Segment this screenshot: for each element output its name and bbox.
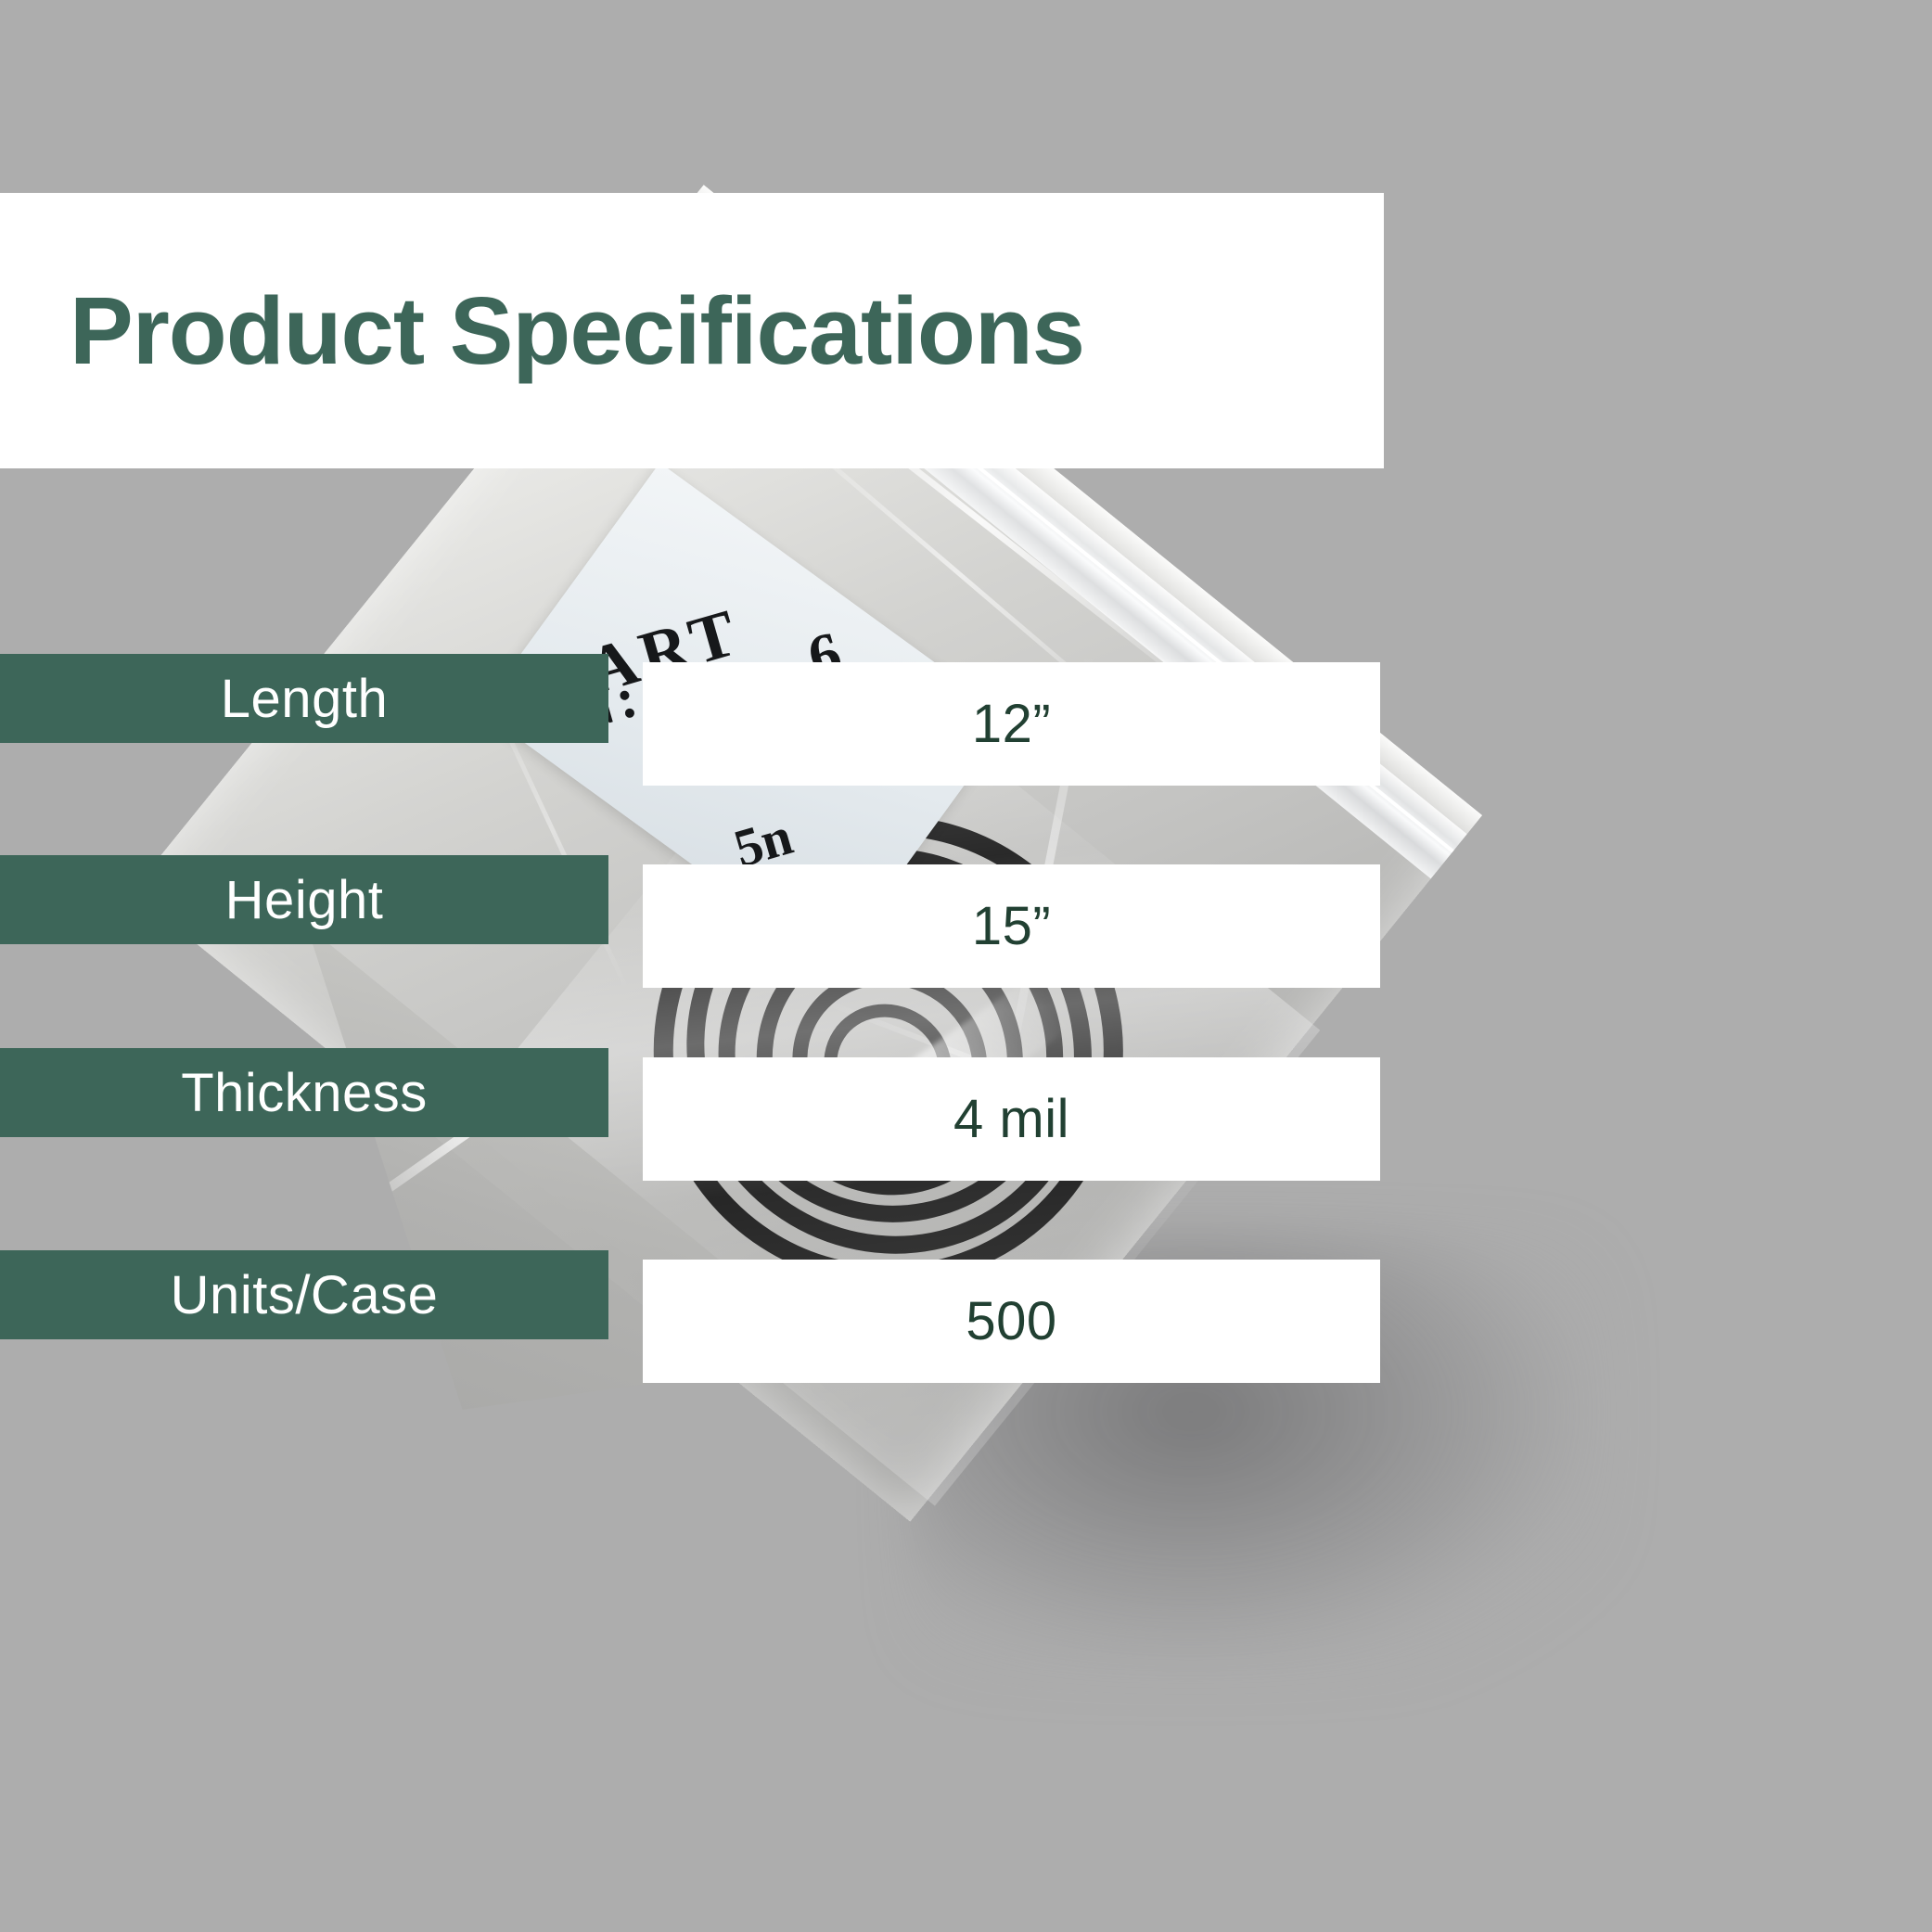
spec-value-text: 500: [966, 1290, 1056, 1352]
spec-value-text: 15”: [972, 895, 1051, 957]
spec-label-text: Height: [225, 869, 384, 931]
spec-value-cell: 12”: [643, 662, 1380, 786]
spec-value-cell: 15”: [643, 864, 1380, 988]
spec-value-cell: 500: [643, 1260, 1380, 1383]
spec-label-text: Thickness: [181, 1062, 428, 1124]
spec-value-text: 12”: [972, 693, 1051, 755]
spec-label-text: Units/Case: [171, 1264, 439, 1326]
product-spec-card: 6 ART 0/ N: 5n Product Specifications Le…: [0, 0, 1932, 1932]
spec-label-cell: Units/Case: [0, 1250, 608, 1339]
spec-label-text: Length: [221, 668, 388, 730]
page-title: Product Specifications: [70, 283, 1084, 378]
spec-value-cell: 4 mil: [643, 1057, 1380, 1181]
header-panel: Product Specifications: [0, 193, 1384, 468]
spec-label-cell: Height: [0, 855, 608, 944]
spec-label-cell: Length: [0, 654, 608, 743]
spec-value-text: 4 mil: [953, 1088, 1069, 1150]
spec-label-cell: Thickness: [0, 1048, 608, 1137]
